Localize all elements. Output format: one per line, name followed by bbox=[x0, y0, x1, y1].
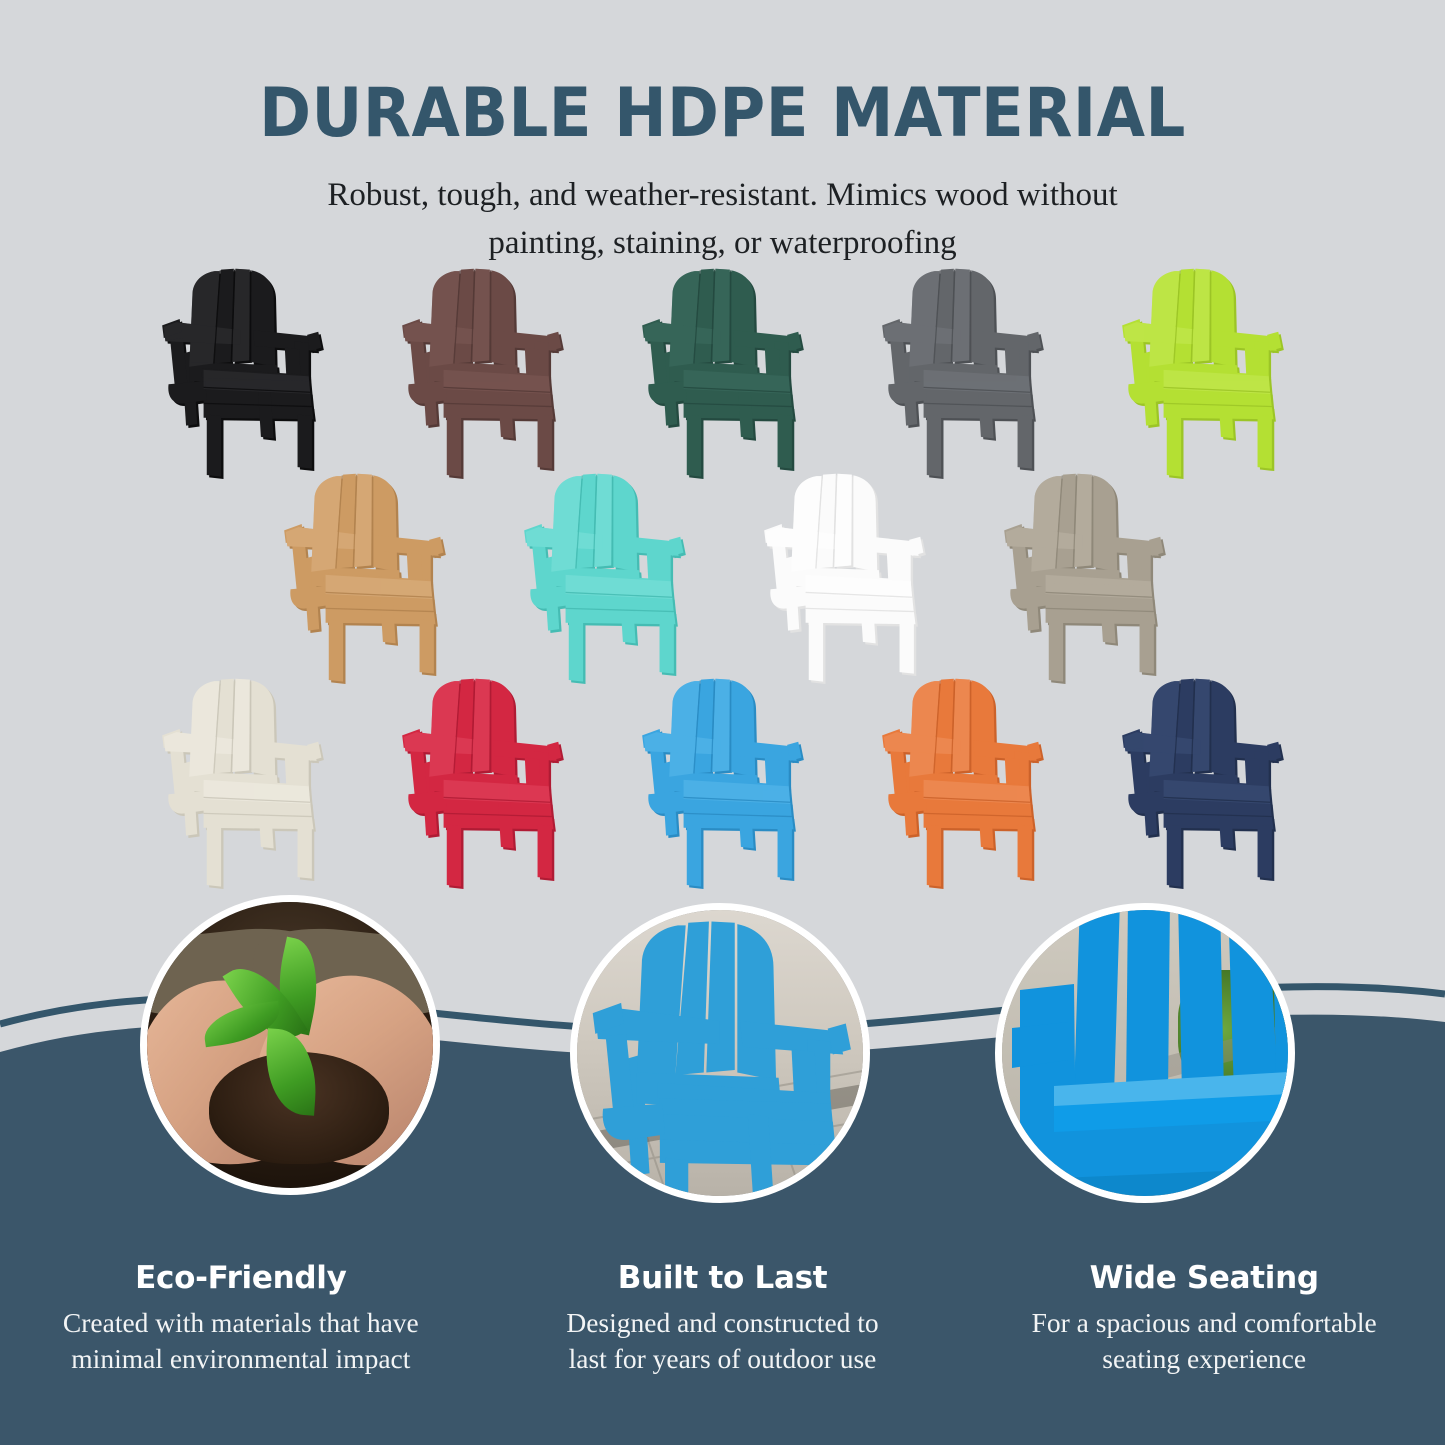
feature-photos bbox=[0, 895, 1445, 1225]
footer-block: Eco-Friendly Created with materials that… bbox=[0, 960, 1445, 1445]
adirondack-chair-icon bbox=[617, 678, 829, 893]
chair-swatch-turquoise[interactable] bbox=[499, 473, 711, 688]
header-block: DURABLE HDPE MATERIAL Robust, tough, and… bbox=[0, 0, 1445, 268]
adirondack-chair-icon bbox=[739, 473, 951, 688]
feature-title: Built to Last bbox=[504, 1260, 942, 1296]
page-title: DURABLE HDPE MATERIAL bbox=[58, 80, 1387, 148]
adirondack-chair-icon bbox=[857, 678, 1069, 893]
feature-built-to-last: Built to Last Designed and constructed t… bbox=[482, 1260, 964, 1377]
seat-closeup-shape bbox=[1002, 910, 1295, 1203]
chair-row-1 bbox=[0, 268, 1445, 483]
chair-row-2 bbox=[0, 473, 1445, 688]
adirondack-chair-icon bbox=[617, 268, 829, 483]
chair-swatch-teak[interactable] bbox=[259, 473, 471, 688]
chair-color-grid bbox=[0, 268, 1445, 893]
feature-title: Wide Seating bbox=[985, 1260, 1423, 1296]
chair-swatch-blue[interactable] bbox=[617, 678, 829, 893]
adirondack-chair-icon bbox=[857, 268, 1069, 483]
patio-chair-illustration bbox=[577, 910, 863, 1196]
feature-desc-line-2: minimal environmental impact bbox=[22, 1341, 460, 1377]
infographic-canvas: DURABLE HDPE MATERIAL Robust, tough, and… bbox=[0, 0, 1445, 1445]
chair-swatch-navy-blue[interactable] bbox=[1097, 678, 1309, 893]
feature-captions: Eco-Friendly Created with materials that… bbox=[0, 1260, 1445, 1377]
adirondack-chair-icon bbox=[979, 473, 1191, 688]
chair-swatch-orange[interactable] bbox=[857, 678, 1069, 893]
adirondack-chair-icon bbox=[377, 678, 589, 893]
feature-desc-line-2: last for years of outdoor use bbox=[504, 1341, 942, 1377]
feature-desc-line-1: Created with materials that have bbox=[22, 1305, 460, 1341]
adirondack-chair-icon bbox=[499, 473, 711, 688]
feature-desc-line-1: For a spacious and comfortable bbox=[985, 1305, 1423, 1341]
subtitle-line-1: Robust, tough, and weather-resistant. Mi… bbox=[223, 172, 1223, 220]
feature-desc-line-2: seating experience bbox=[985, 1341, 1423, 1377]
chair-swatch-black[interactable] bbox=[137, 268, 349, 483]
feature-desc-line-1: Designed and constructed to bbox=[504, 1305, 942, 1341]
blue-adirondack-chair-on-patio-photo bbox=[570, 903, 870, 1203]
adirondack-chair-icon bbox=[259, 473, 471, 688]
adirondack-chair-icon bbox=[1097, 678, 1309, 893]
seedling-illustration bbox=[147, 902, 433, 1188]
feature-wide-seating: Wide Seating For a spacious and comforta… bbox=[963, 1260, 1445, 1377]
wide-seat-closeup-photo bbox=[995, 903, 1295, 1203]
chair-swatch-dark-green[interactable] bbox=[617, 268, 829, 483]
adirondack-chair-icon bbox=[377, 268, 589, 483]
chair-swatch-lime-green[interactable] bbox=[1097, 268, 1309, 483]
chair-swatch-brown[interactable] bbox=[377, 268, 589, 483]
chair-row-3 bbox=[0, 678, 1445, 893]
hands-holding-seedling-photo bbox=[140, 895, 440, 1195]
feature-title: Eco-Friendly bbox=[22, 1260, 460, 1296]
feature-description: Designed and constructed to last for yea… bbox=[504, 1305, 942, 1377]
adirondack-chair-icon bbox=[137, 268, 349, 483]
chair-swatch-weathered-wood[interactable] bbox=[979, 473, 1191, 688]
chair-swatch-ivory[interactable] bbox=[137, 678, 349, 893]
chair-photo-shape bbox=[585, 914, 869, 1203]
feature-eco-friendly: Eco-Friendly Created with materials that… bbox=[0, 1260, 482, 1377]
page-subtitle: Robust, tough, and weather-resistant. Mi… bbox=[223, 172, 1223, 268]
wide-seat-illustration bbox=[1002, 910, 1288, 1196]
chair-swatch-white[interactable] bbox=[739, 473, 951, 688]
adirondack-chair-icon bbox=[1097, 268, 1309, 483]
chair-swatch-gray[interactable] bbox=[857, 268, 1069, 483]
subtitle-line-2: painting, staining, or waterproofing bbox=[223, 220, 1223, 268]
feature-description: For a spacious and comfortable seating e… bbox=[985, 1305, 1423, 1377]
adirondack-chair-icon bbox=[137, 678, 349, 893]
chair-swatch-red[interactable] bbox=[377, 678, 589, 893]
feature-description: Created with materials that have minimal… bbox=[22, 1305, 460, 1377]
